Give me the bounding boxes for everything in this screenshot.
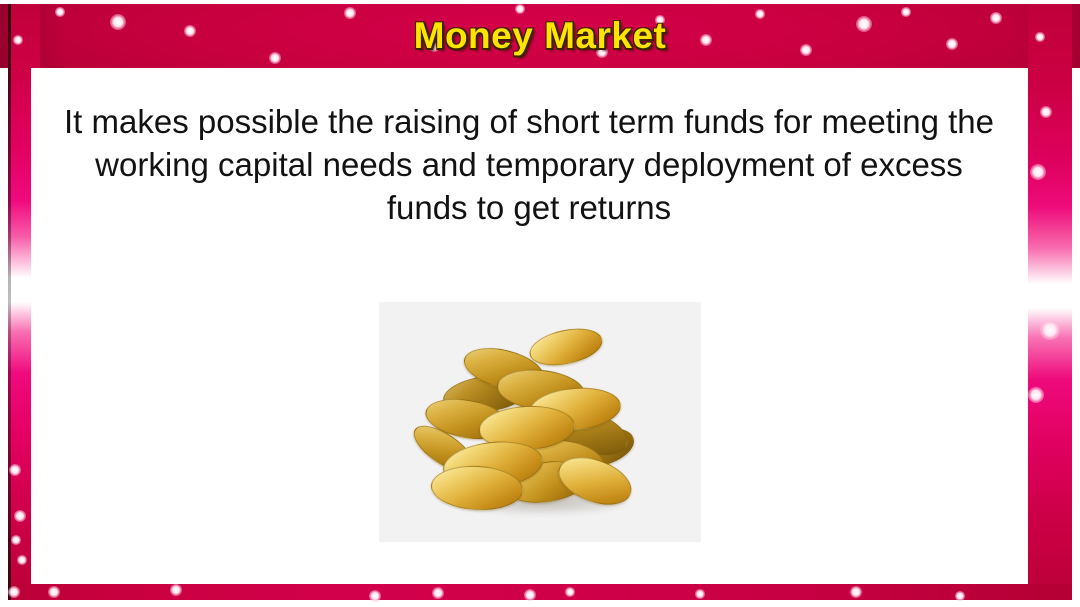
bottom-border-band — [8, 584, 1072, 600]
gold-coins-image — [379, 302, 701, 542]
slide-content-area: It makes possible the raising of short t… — [31, 68, 1027, 584]
slide-title-container: Money Market — [0, 0, 1080, 72]
page-title: Money Market — [414, 15, 667, 57]
coin-pile — [379, 302, 701, 542]
slide-body-text: It makes possible the raising of short t… — [55, 100, 1003, 229]
presentation-slide: Money Market It makes possible the raisi… — [0, 0, 1080, 607]
right-border-band — [1028, 4, 1072, 600]
frame-edge-shadow — [8, 4, 11, 600]
gold-coin — [526, 323, 605, 372]
